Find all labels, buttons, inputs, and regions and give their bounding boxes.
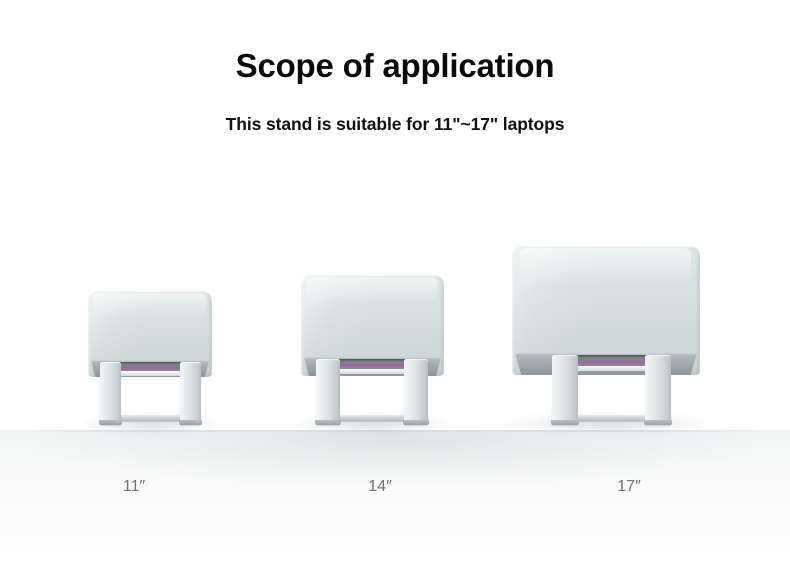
product-unit-17in <box>512 296 700 425</box>
laptop-stand <box>301 359 444 425</box>
laptop-stand <box>88 362 212 425</box>
size-label-17in: 17″ <box>569 478 689 496</box>
stand-leg-left <box>552 355 578 425</box>
laptop-stand <box>512 355 700 425</box>
product-unit-14in <box>301 324 444 425</box>
size-label-11in: 11″ <box>74 478 194 496</box>
stand-leg-right <box>645 355 671 425</box>
stand-leg-right <box>404 359 428 425</box>
stand-crossbar <box>113 362 189 371</box>
stand-leg-right <box>180 362 201 425</box>
page-title: Scope of application <box>0 47 790 85</box>
stand-crossbar <box>570 355 655 366</box>
stand-upper-rail <box>332 369 412 374</box>
floor-horizon-line <box>0 430 790 432</box>
stand-upper-rail <box>570 366 655 371</box>
stand-upper-rail <box>113 371 189 376</box>
size-label-14in: 14″ <box>320 478 440 496</box>
stand-leg-left <box>316 359 340 425</box>
floor-plane <box>0 430 790 577</box>
page-subtitle: This stand is suitable for 11"~17" lapto… <box>0 114 790 135</box>
stand-leg-left <box>100 362 121 425</box>
product-unit-11in <box>88 339 212 425</box>
stand-crossbar <box>332 359 412 369</box>
